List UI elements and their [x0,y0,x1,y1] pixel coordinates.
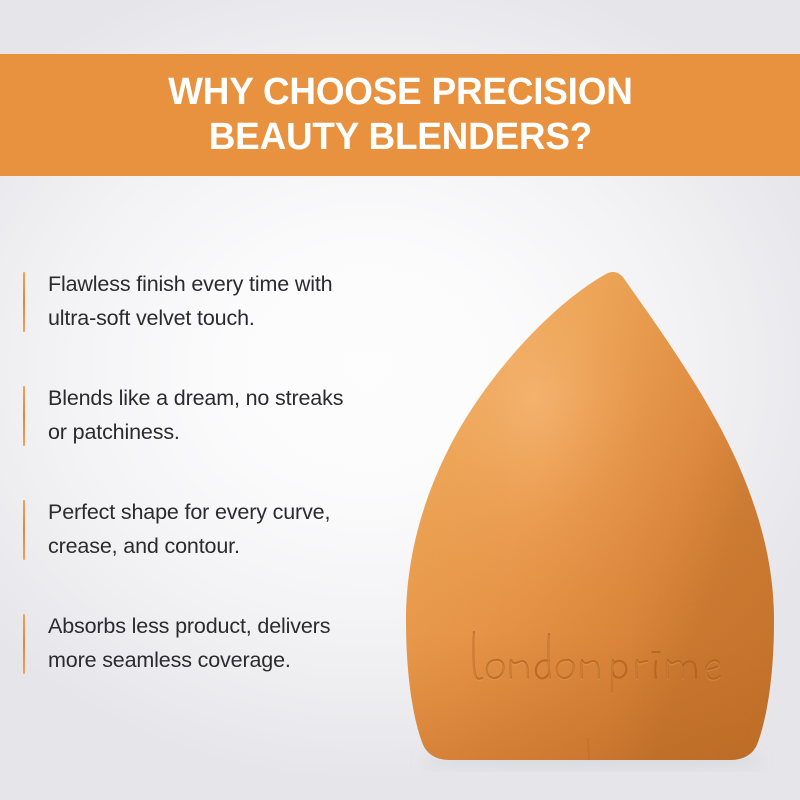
benefit-text: Absorbs less product, delivers more seam… [48,610,414,678]
page-title: WHY CHOOSE PRECISION BEAUTY BLENDERS? [168,70,632,160]
sponge-texture [392,268,788,772]
accent-bar-icon [23,386,25,446]
benefits-list: Flawless finish every time with ultra-so… [22,268,414,678]
benefit-text: Flawless finish every time with ultra-so… [48,268,414,336]
beauty-blender-sponge-illustration [392,268,788,772]
list-item: Absorbs less product, delivers more seam… [22,610,414,678]
accent-bar-icon [23,272,25,332]
header-banner: WHY CHOOSE PRECISION BEAUTY BLENDERS? [0,54,800,176]
benefit-text: Blends like a dream, no streaks or patch… [48,382,414,450]
accent-bar-icon [23,500,25,560]
list-item: Flawless finish every time with ultra-so… [22,268,414,336]
list-item: Perfect shape for every curve, crease, a… [22,496,414,564]
accent-bar-icon [23,614,25,674]
benefit-text: Perfect shape for every curve, crease, a… [48,496,414,564]
product-infographic: WHY CHOOSE PRECISION BEAUTY BLENDERS? Fl… [0,0,800,800]
product-image: londonprime [392,268,788,772]
list-item: Blends like a dream, no streaks or patch… [22,382,414,450]
